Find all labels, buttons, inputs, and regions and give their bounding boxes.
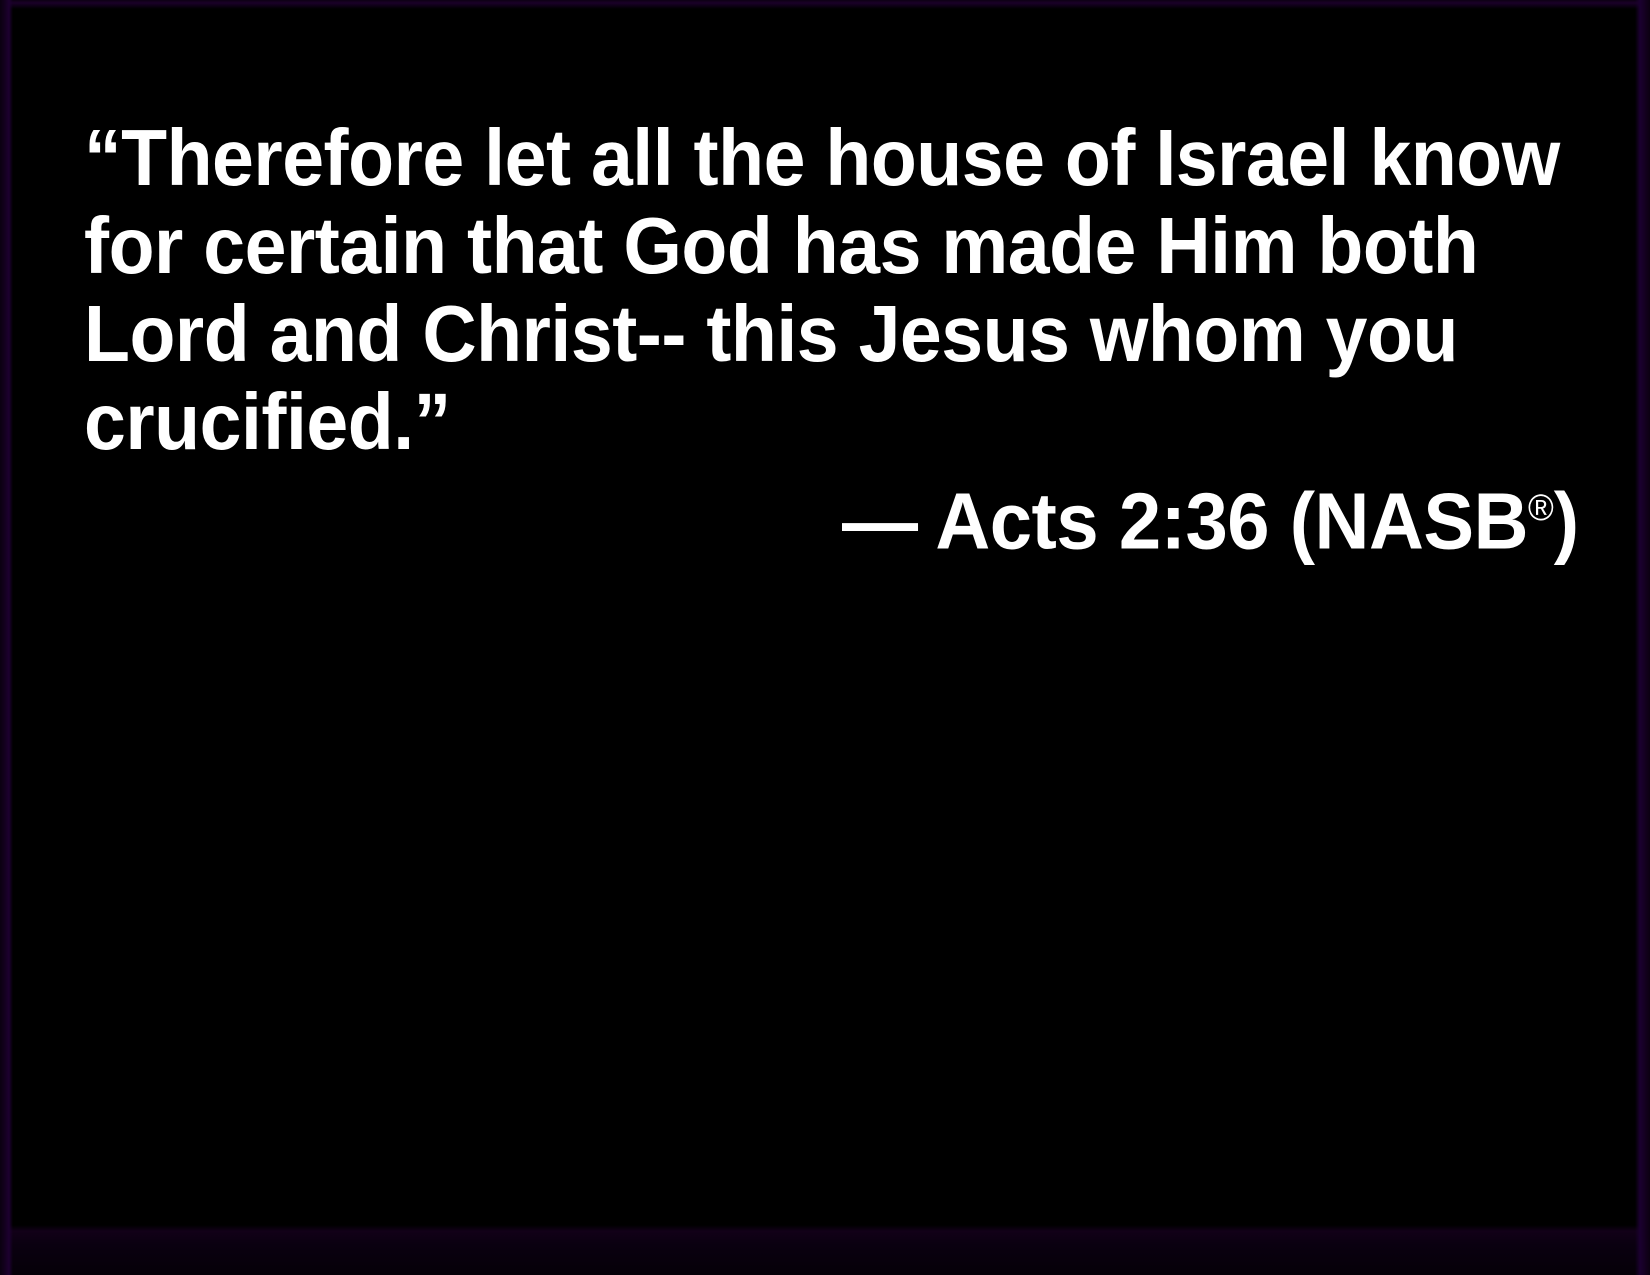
scripture-line-4: crucified.” bbox=[84, 378, 451, 466]
scripture-line-1: “Therefore let all the house of Israel k… bbox=[84, 114, 1560, 202]
scripture-line-2: for certain that God has made Him both bbox=[84, 202, 1478, 290]
attribution-reference: 2:36 bbox=[1119, 477, 1269, 566]
text-layer: “Therefore let all the house of Israel k… bbox=[0, 0, 1650, 1275]
scripture-slide: “Therefore let all the house of Israel k… bbox=[0, 0, 1650, 1275]
scripture-line-3: Lord and Christ-- this Jesus whom you bbox=[84, 290, 1458, 378]
attribution-close-paren: ) bbox=[1554, 477, 1579, 566]
attribution-book: Acts bbox=[935, 477, 1098, 566]
attribution-open-paren: ( bbox=[1290, 477, 1315, 566]
attribution-translation: NASB bbox=[1315, 477, 1528, 566]
registered-trademark-icon: ® bbox=[1528, 487, 1554, 528]
attribution-dash: — bbox=[842, 477, 918, 566]
scripture-attribution: — Acts 2:36 (NASB®) bbox=[842, 464, 1579, 566]
